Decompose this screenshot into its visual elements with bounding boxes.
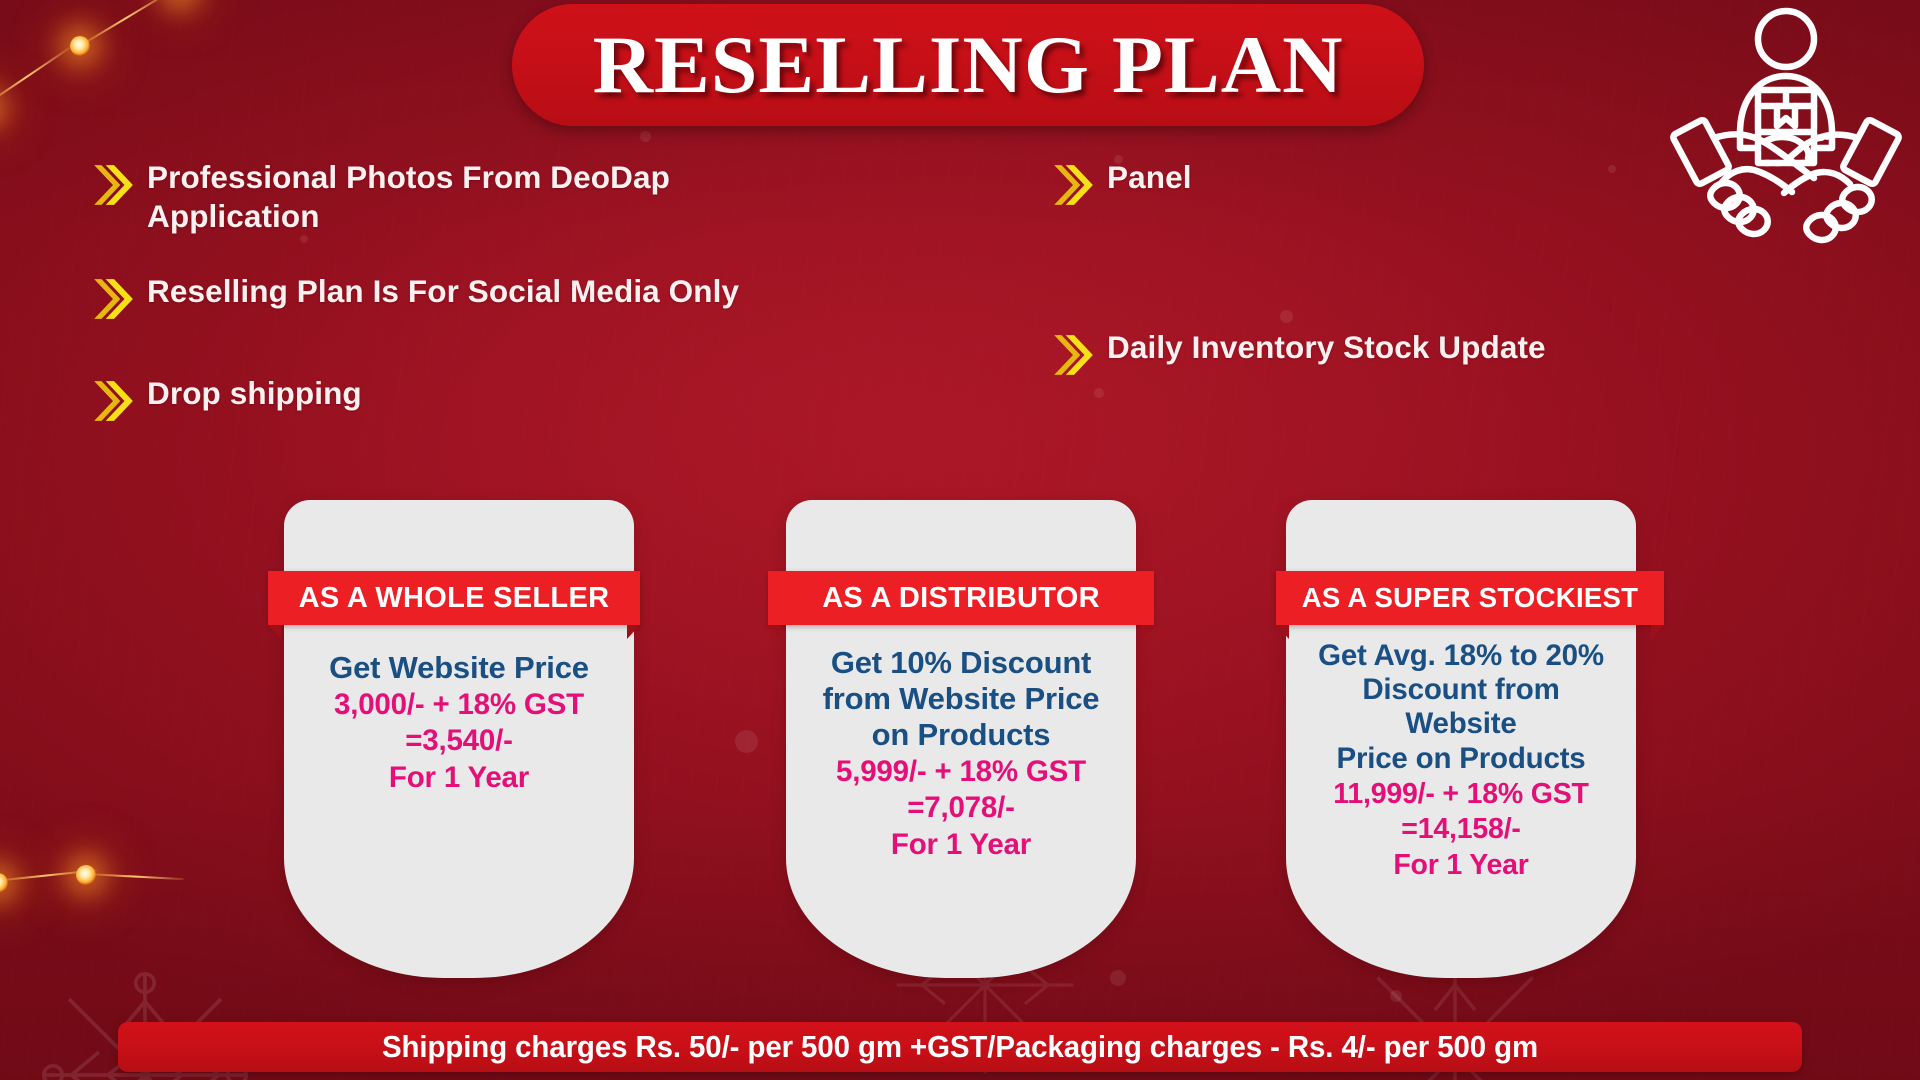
plan-price-duration: For 1 Year: [1294, 849, 1628, 882]
plan-price-total: =7,078/-: [794, 791, 1128, 826]
plan-card-whole-seller[interactable]: AS A WHOLE SELLER Get Website Price 3,00…: [284, 500, 634, 978]
ribbon-fold-left: [268, 625, 281, 639]
plan-ribbon-label: AS A SUPER STOCKIEST: [1302, 582, 1639, 614]
plan-card-distributor[interactable]: AS A DISTRIBUTOR Get 10% Discount from W…: [786, 500, 1136, 978]
shipping-note-banner: Shipping charges Rs. 50/- per 500 gm +GS…: [118, 1022, 1802, 1072]
plan-ribbon-label: AS A DISTRIBUTOR: [822, 582, 1100, 615]
plan-card-content: Get Avg. 18% to 20% Discount from Websit…: [1286, 639, 1636, 882]
plan-ribbon: AS A DISTRIBUTOR: [768, 571, 1154, 625]
plan-headline: Get Avg. 18% to 20% Discount from Websit…: [1294, 639, 1628, 776]
plan-ribbon: AS A SUPER STOCKIEST: [1276, 571, 1664, 625]
plan-price-line: 5,999/- + 18% GST: [794, 755, 1128, 790]
plan-card-super-stockiest[interactable]: AS A SUPER STOCKIEST Get Avg. 18% to 20%…: [1286, 500, 1636, 978]
ribbon-fold-right: [1651, 625, 1664, 639]
plan-price-line: 3,000/- + 18% GST: [292, 688, 626, 723]
plan-ribbon: AS A WHOLE SELLER: [268, 571, 640, 625]
shipping-note-text: Shipping charges Rs. 50/- per 500 gm +GS…: [382, 1030, 1538, 1065]
plan-headline: Get 10% Discount from Website Price on P…: [794, 645, 1128, 753]
plan-headline: Get Website Price: [292, 650, 626, 686]
plan-card-content: Get Website Price 3,000/- + 18% GST =3,5…: [284, 650, 634, 795]
plan-card-content: Get 10% Discount from Website Price on P…: [786, 645, 1136, 862]
ribbon-fold-left: [768, 625, 781, 639]
plan-ribbon-label: AS A WHOLE SELLER: [299, 582, 610, 615]
plan-price-duration: For 1 Year: [292, 761, 626, 796]
ribbon-fold-right: [1141, 625, 1154, 639]
plan-price-duration: For 1 Year: [794, 828, 1128, 863]
plan-price-total: =14,158/-: [1294, 813, 1628, 846]
plan-price-total: =3,540/-: [292, 724, 626, 759]
plan-price-line: 11,999/- + 18% GST: [1294, 778, 1628, 811]
ribbon-fold-left: [1276, 625, 1289, 639]
